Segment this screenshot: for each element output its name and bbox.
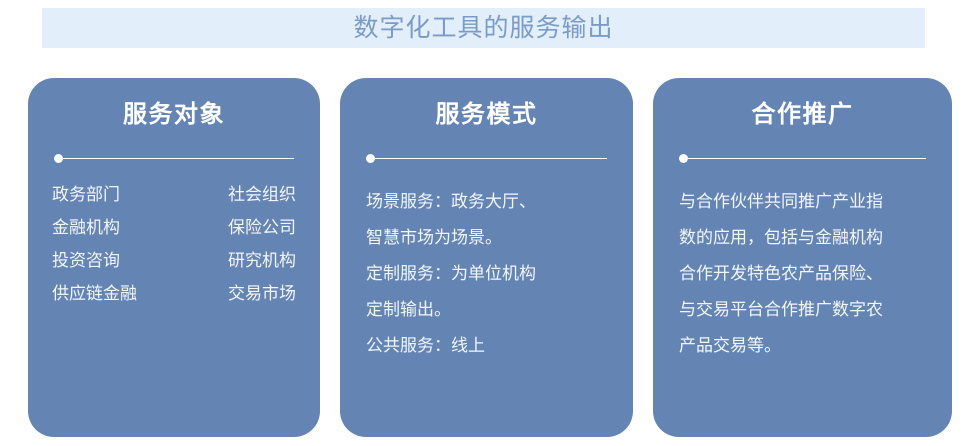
list-item: 交易市场 xyxy=(228,283,296,305)
divider-dot-icon xyxy=(679,154,688,163)
card-row: 服务对象 政务部门 社会组织 金融机构 保险公司 投资咨询 研究机构 供应链金融… xyxy=(0,78,976,437)
list-item: 保险公司 xyxy=(228,217,296,239)
divider-dot-icon xyxy=(366,154,375,163)
divider-line xyxy=(370,158,607,159)
card-heading: 服务模式 xyxy=(340,98,633,132)
body-line: 智慧市场为场景。 xyxy=(366,220,633,256)
list-item: 供应链金融 xyxy=(52,283,137,305)
card-body: 政务部门 社会组织 金融机构 保险公司 投资咨询 研究机构 供应链金融 交易市场 xyxy=(28,184,320,305)
body-line: 公共服务：线上 xyxy=(366,328,633,364)
header-bar: 数字化工具的服务输出 xyxy=(42,8,925,48)
card-heading: 合作推广 xyxy=(653,98,952,132)
body-line: 合作开发特色农产品保险、 xyxy=(679,256,952,292)
list-item: 研究机构 xyxy=(228,250,296,272)
card-body: 与合作伙伴共同推广产业指 数的应用，包括与金融机构 合作开发特色农产品保险、 与… xyxy=(653,184,952,364)
body-line: 与交易平台合作推广数字农 xyxy=(679,292,952,328)
body-line: 与合作伙伴共同推广产业指 xyxy=(679,184,952,220)
body-line: 定制服务：为单位机构 xyxy=(366,256,633,292)
list-item: 政务部门 xyxy=(52,184,137,206)
list-item: 社会组织 xyxy=(228,184,296,206)
page-title: 数字化工具的服务输出 xyxy=(353,16,613,41)
card-heading: 服务对象 xyxy=(28,98,320,132)
divider-line xyxy=(58,158,294,159)
body-line: 场景服务：政务大厅、 xyxy=(366,184,633,220)
list-item: 投资咨询 xyxy=(52,250,137,272)
divider-line xyxy=(683,158,926,159)
body-line: 数的应用，包括与金融机构 xyxy=(679,220,952,256)
list-item: 金融机构 xyxy=(52,217,137,239)
card-divider xyxy=(366,154,607,163)
card-divider xyxy=(54,154,294,163)
body-line: 定制输出。 xyxy=(366,292,633,328)
divider-dot-icon xyxy=(54,154,63,163)
body-line: 产品交易等。 xyxy=(679,328,952,364)
card-service-modes: 服务模式 场景服务：政务大厅、 智慧市场为场景。 定制服务：为单位机构 定制输出… xyxy=(340,78,633,437)
card-service-targets: 服务对象 政务部门 社会组织 金融机构 保险公司 投资咨询 研究机构 供应链金融… xyxy=(28,78,320,437)
card-divider xyxy=(679,154,926,163)
card-partnership-promotion: 合作推广 与合作伙伴共同推广产业指 数的应用，包括与金融机构 合作开发特色农产品… xyxy=(653,78,952,437)
card-body: 场景服务：政务大厅、 智慧市场为场景。 定制服务：为单位机构 定制输出。 公共服… xyxy=(340,184,633,364)
